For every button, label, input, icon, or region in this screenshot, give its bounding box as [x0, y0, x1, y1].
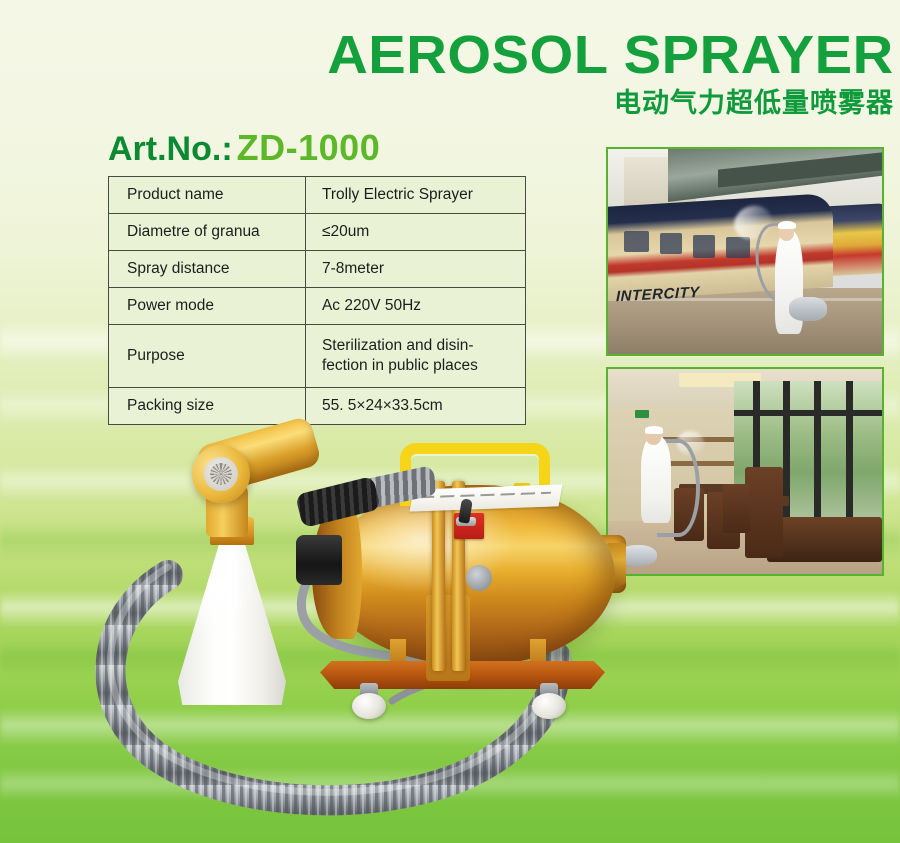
spec-key: Packing size	[109, 388, 306, 425]
operator-cap	[778, 221, 796, 229]
table-row: Purpose Sterilization and disin- fection…	[109, 325, 526, 388]
window-transom	[734, 410, 882, 416]
train-scene: INTERCITY	[608, 149, 882, 354]
train-window	[726, 237, 751, 258]
header: AEROSOL SPRAYER 电动气力超低量喷雾器	[349, 28, 894, 117]
spec-value: 55. 5×24×33.5cm	[305, 388, 525, 425]
train-window	[660, 233, 682, 254]
table-row: Power mode Ac 220V 50Hz	[109, 288, 526, 325]
window-mullion	[846, 381, 853, 529]
table-row: Diametre of granua ≤20um	[109, 214, 526, 251]
spec-value: Ac 220V 50Hz	[305, 288, 525, 325]
spec-key: Product name	[109, 177, 306, 214]
product-photo-sprayer	[60, 425, 680, 825]
bench-seat	[767, 517, 882, 562]
caster-wheel	[532, 683, 566, 719]
caster-roller	[352, 693, 386, 719]
sprayer-unit	[789, 297, 827, 322]
page-subtitle: 电动气力超低量喷雾器	[349, 90, 894, 117]
spec-key: Power mode	[109, 288, 306, 325]
table-row: Product name Trolly Electric Sprayer	[109, 177, 526, 214]
spec-value: 7-8meter	[305, 251, 525, 288]
caster-roller	[532, 693, 566, 719]
spec-key: Diametre of granua	[109, 214, 306, 251]
nozzle-diffuser-icon	[210, 463, 232, 485]
table-row: Packing size 55. 5×24×33.5cm	[109, 388, 526, 425]
spec-value: Trolly Electric Sprayer	[305, 177, 525, 214]
dining-chair	[745, 467, 783, 557]
product-poster: AEROSOL SPRAYER 电动气力超低量喷雾器 Art.No.:ZD-10…	[0, 0, 900, 843]
dining-chair	[723, 484, 750, 533]
spec-table: Product name Trolly Electric Sprayer Dia…	[108, 176, 526, 425]
window-mullion	[814, 381, 821, 529]
train-window	[624, 231, 649, 252]
window-mullion	[783, 381, 790, 529]
spec-table-body: Product name Trolly Electric Sprayer Dia…	[109, 177, 526, 425]
art-no-heading: Art.No.:ZD-1000	[108, 130, 380, 166]
application-photo-train: INTERCITY	[606, 147, 884, 356]
page-title: AEROSOL SPRAYER	[328, 28, 894, 82]
train-door-window	[693, 235, 715, 258]
black-hose-coupler	[296, 535, 342, 585]
art-no-value: ZD-1000	[237, 127, 381, 168]
spec-key: Purpose	[109, 325, 306, 388]
caster-wheel	[352, 683, 386, 719]
spec-key: Spray distance	[109, 251, 306, 288]
exit-sign	[635, 410, 649, 418]
art-no-label: Art.No.:	[108, 130, 233, 168]
table-row: Spray distance 7-8meter	[109, 251, 526, 288]
spec-value: Sterilization and disin- fection in publ…	[305, 325, 525, 388]
hose-grommet	[466, 565, 492, 591]
spec-value: ≤20um	[305, 214, 525, 251]
